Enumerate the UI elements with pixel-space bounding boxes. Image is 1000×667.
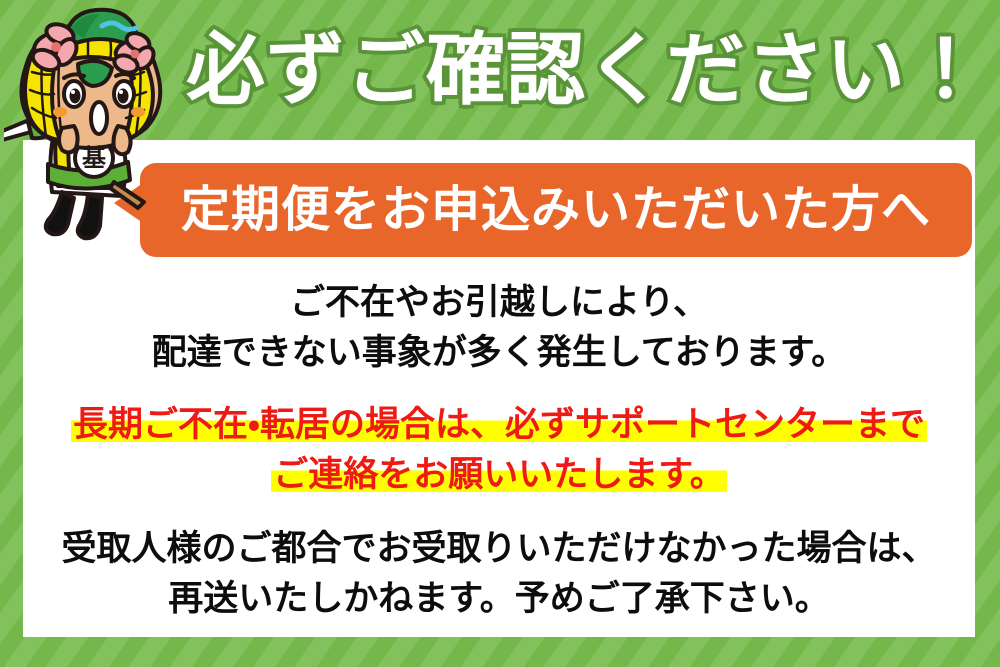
notice-poster: 必ずご確認ください！ [0, 0, 1000, 667]
paragraph-line: 配達できない事象が多く発生しております。 [23, 328, 975, 378]
svg-text:基: 基 [82, 144, 107, 172]
paragraph-delivery-issue: ご不在やお引越しにより、 配達できない事象が多く発生しております。 [23, 278, 975, 379]
highlighted-text: 長期ご不在・転居の場合は、必ずサポートセンターまで [71, 405, 927, 444]
page-title: 必ずご確認ください！ [186, 6, 986, 132]
orange-callout-banner: 定期便をお申込みいただいた方へ [132, 163, 972, 257]
paragraph-line: ご不在やお引越しにより、 [23, 278, 975, 328]
banner-label: 定期便をお申込みいただいた方へ [181, 186, 931, 235]
paragraph-no-resend: 受取人様のご都合でお受取りいただけなかった場合は、 再送いたしかねます。予めご了… [23, 524, 975, 625]
melon-head-mascot-icon: 基 [4, 6, 184, 246]
paragraph-line: 長期ご不在・転居の場合は、必ずサポートセンターまで [23, 400, 975, 450]
paragraph-contact-support: 長期ご不在・転居の場合は、必ずサポートセンターまで ご連絡をお願いいたします。 [23, 400, 975, 501]
banner-body: 定期便をお申込みいただいた方へ [140, 163, 972, 257]
paragraph-line: 受取人様のご都合でお受取りいただけなかった場合は、 [23, 524, 975, 574]
paragraph-line: 再送いたしかねます。予めご了承下さい。 [23, 574, 975, 624]
highlighted-text: ご連絡をお願いいたします。 [271, 455, 727, 494]
paragraph-line: ご連絡をお願いいたします。 [23, 450, 975, 500]
